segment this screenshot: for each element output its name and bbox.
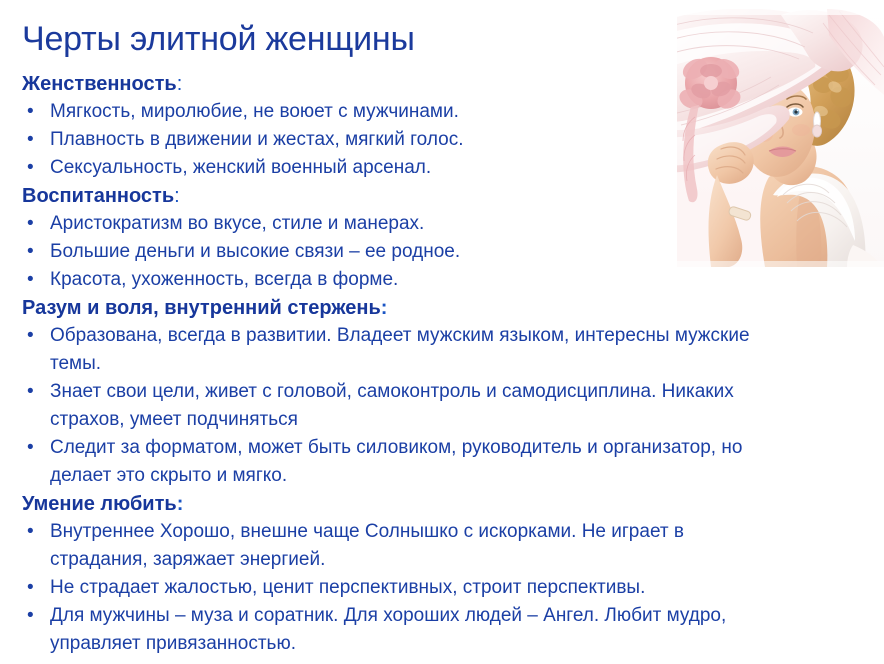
woman-in-hat-illustration [677,9,884,267]
section-heading: Женственность: [22,70,782,98]
section-heading-text: Разум и воля, внутренний стержень [22,297,381,319]
section-heading-colon: : [174,185,180,207]
list-item: • Знает свои цели, живет с головой, само… [22,378,782,434]
bullet-icon: • [22,322,50,350]
bullet-icon: • [22,518,50,546]
bullet-icon: • [22,266,50,294]
list-item: • Для мужчины – муза и соратник. Для хор… [22,602,782,658]
list-item: • Внутреннее Хорошо, внешне чаще Солнышк… [22,518,782,574]
list-item: • Сексуальность, женский военный арсенал… [22,154,782,182]
list-item: • Не страдает жалостью, ценит перспектив… [22,574,782,602]
section-heading: Разум и воля, внутренний стержень: [22,294,782,322]
list-item-text: Образована, всегда в развитии. Владеет м… [50,322,750,378]
list-item-text: Плавность в движении и жестах, мягкий го… [50,126,670,154]
bullet-icon: • [22,126,50,154]
list-item-text: Мягкость, миролюбие, не воюет с мужчинам… [50,98,670,126]
list-item: • Плавность в движении и жестах, мягкий … [22,126,782,154]
section-heading-colon: : [381,297,388,319]
section-mind-and-will: Разум и воля, внутренний стержень: • Обр… [22,294,782,490]
bullet-group: • Образована, всегда в развитии. Владеет… [22,322,782,490]
list-item-text: Для мужчины – муза и соратник. Для хорош… [50,602,750,658]
section-good-breeding: Воспитанность: • Аристократизм во вкусе,… [22,182,782,294]
list-item: • Образована, всегда в развитии. Владеет… [22,322,782,378]
list-item: • Аристократизм во вкусе, стиле и манера… [22,210,782,238]
section-heading: Воспитанность: [22,182,782,210]
content-list: Женственность: • Мягкость, миролюбие, не… [22,70,782,658]
section-heading-text: Умение любить [22,493,177,515]
list-item: • Красота, ухоженность, всегда в форме. [22,266,782,294]
bullet-icon: • [22,98,50,126]
list-item-text: Знает свои цели, живет с головой, самоко… [50,378,750,434]
bullet-icon: • [22,434,50,462]
list-item: • Мягкость, миролюбие, не воюет с мужчин… [22,98,782,126]
bullet-icon: • [22,238,50,266]
bullet-group: • Внутреннее Хорошо, внешне чаще Солнышк… [22,518,782,658]
section-heading-colon: : [177,493,184,515]
list-item: • Большие деньги и высокие связи – ее ро… [22,238,782,266]
list-item-text: Не страдает жалостью, ценит перспективны… [50,574,750,602]
list-item-text: Красота, ухоженность, всегда в форме. [50,266,670,294]
section-femininity: Женственность: • Мягкость, миролюбие, не… [22,70,782,182]
bullet-icon: • [22,378,50,406]
list-item-text: Сексуальность, женский военный арсенал. [50,154,670,182]
section-heading-text: Воспитанность [22,185,174,207]
list-item: • Следит за форматом, может быть силовик… [22,434,782,490]
list-item-text: Следит за форматом, может быть силовиком… [50,434,750,490]
section-ability-to-love: Умение любить: • Внутреннее Хорошо, внеш… [22,490,782,658]
portrait-photo [677,9,884,267]
section-heading-colon: : [177,73,183,95]
section-heading-text: Женственность [22,73,177,95]
bullet-icon: • [22,602,50,630]
bullet-group: • Аристократизм во вкусе, стиле и манера… [22,210,782,294]
page-title: Черты элитной женщины [22,19,662,59]
bullet-icon: • [22,574,50,602]
bullet-icon: • [22,154,50,182]
list-item-text: Большие деньги и высокие связи – ее родн… [50,238,670,266]
bullet-group: • Мягкость, миролюбие, не воюет с мужчин… [22,98,782,182]
list-item-text: Аристократизм во вкусе, стиле и манерах. [50,210,670,238]
list-item-text: Внутреннее Хорошо, внешне чаще Солнышко … [50,518,750,574]
slide-canvas: Черты элитной женщины Женственность: • М… [0,0,884,664]
section-heading: Умение любить: [22,490,782,518]
bullet-icon: • [22,210,50,238]
